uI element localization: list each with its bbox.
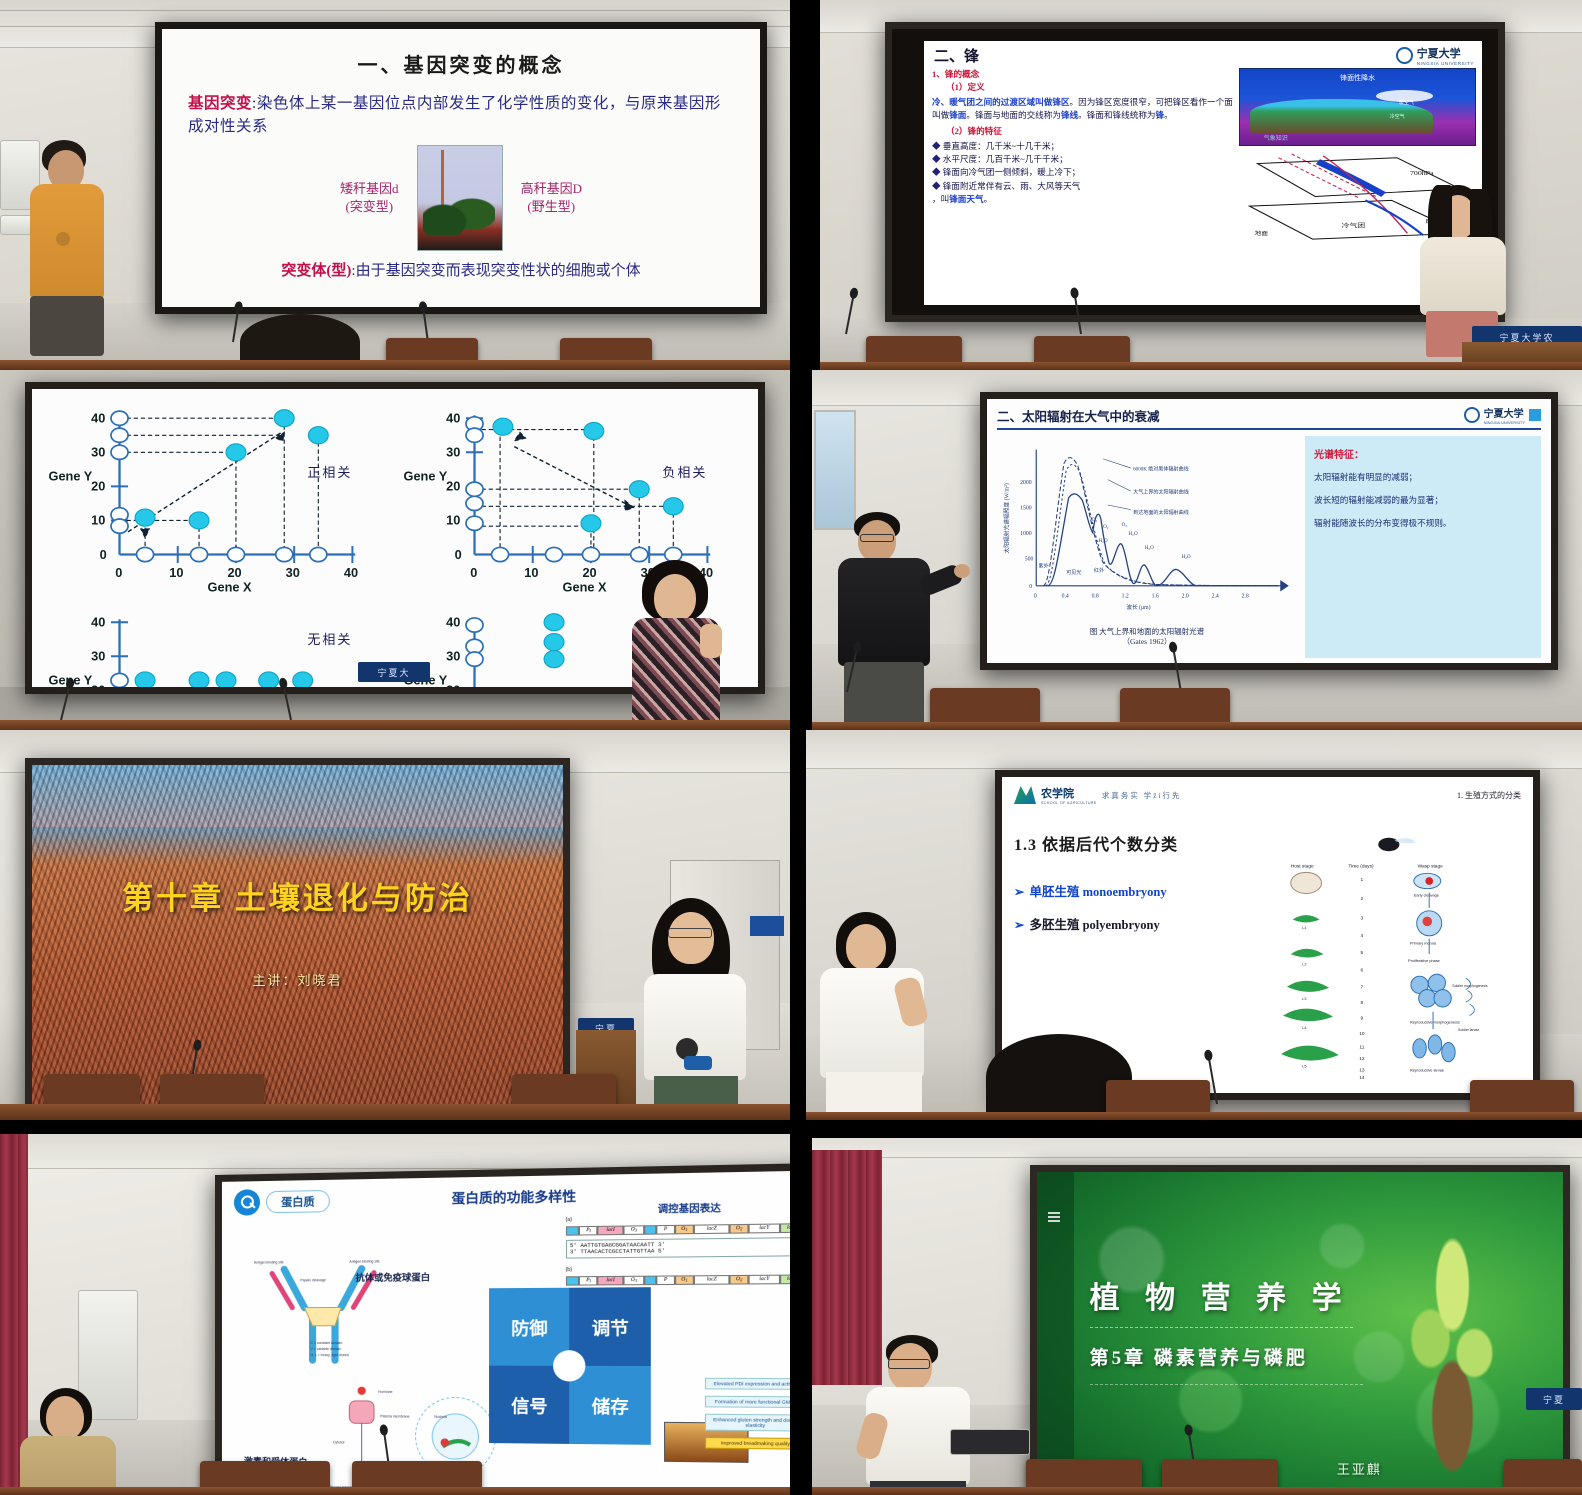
letterbox-left — [790, 730, 806, 1120]
svg-text:紫外: 紫外 — [1039, 562, 1049, 569]
svg-text:Gene X: Gene X — [563, 579, 607, 594]
figure-caption: 图 大气上界和地面的太阳辐射光谱 — [997, 627, 1297, 637]
svg-text:20: 20 — [227, 565, 241, 580]
svg-text:4: 4 — [1361, 933, 1364, 939]
conference-desk — [806, 1112, 1582, 1120]
svg-text:0: 0 — [115, 565, 122, 580]
slide-subtitle: 主讲：刘晓君 — [32, 970, 563, 989]
svg-text:6: 6 — [1361, 967, 1364, 973]
presenter-white-polo — [860, 1335, 978, 1495]
svg-text:Gene Y: Gene Y — [404, 469, 448, 484]
svg-text:Early cleavage: Early cleavage — [1414, 893, 1439, 897]
logo-subtext: NINGXIA UNIVERSITY — [1417, 61, 1474, 66]
slide-section-label: 1. 生殖方式的分类 — [1457, 790, 1521, 801]
svg-text:10: 10 — [1360, 1031, 1366, 1037]
box-line: 太阳辐射能有明显的减弱； — [1314, 471, 1532, 483]
slide-plant-nutrition: 植 物 营 养 学 第5章 磷素营养与磷肥 王亚麒 — [1037, 1172, 1563, 1495]
svg-text:0: 0 — [455, 547, 462, 562]
mutant-label: 突变体(型) — [281, 263, 351, 279]
svg-text:H₂O: H₂O — [1145, 545, 1154, 551]
svg-text:Gene Y: Gene Y — [49, 469, 93, 484]
panel-gene-correlation[interactable]: 403020100 010203040 Gene YGene X — [0, 370, 790, 730]
svg-text:Plasma membrane: Plasma membrane — [380, 1414, 410, 1418]
svg-text:Antigen binding site: Antigen binding site — [349, 1259, 380, 1263]
svg-text:40: 40 — [344, 565, 358, 580]
svg-text:20: 20 — [91, 682, 105, 687]
slide-title: 二、锋 — [934, 45, 979, 66]
conference-desk — [820, 362, 1582, 370]
svg-text:6000K 绝对黑体辐射曲线: 6000K 绝对黑体辐射曲线 — [1133, 465, 1189, 472]
svg-text:30: 30 — [91, 445, 105, 460]
label-warm-air: 暖空气 — [1399, 99, 1414, 106]
slide-definition: 基因突变:染色体上某一基因位点内部发生了化学性质的变化，与原来基因形成对性关系 — [188, 92, 734, 139]
slide-protein-function: 蛋白质的功能多样性 蛋白质 — [222, 1170, 790, 1495]
logo-text: 宁夏大学 — [1484, 405, 1525, 420]
video-grid: 一、基因突变的概念 基因突变:染色体上某一基因位点内部发生了化学性质的变化，与原… — [0, 0, 1582, 1495]
panel-solar-radiation[interactable]: 二、太阳辐射在大气中的衰减 宁夏大学 NINGXIA UNIVERSITY — [790, 370, 1582, 730]
flow-diagram: Elevated PDI expression and activity For… — [705, 1378, 790, 1456]
presenter-white-blouse — [640, 898, 750, 1120]
school-slogan: 求真务实 学ží行先 — [1102, 790, 1182, 801]
presenter-floral-dress — [628, 560, 724, 730]
letterbox-left — [790, 0, 820, 370]
wildtype-caption: 高秆基因D (野生型) — [521, 180, 582, 215]
letterbox-top — [790, 1120, 1582, 1138]
panel-gene-mutation[interactable]: 一、基因突变的概念 基因突变:染色体上某一基因位点内部发生了化学性质的变化，与原… — [0, 0, 790, 370]
menu-icon — [1048, 1212, 1060, 1222]
mutant-caption: 矮秆基因d (突变型) — [340, 180, 399, 215]
svg-text:H₂O: H₂O — [1182, 554, 1191, 560]
svg-text:30: 30 — [446, 445, 460, 460]
section-heading-1: 1、锋的概念 — [932, 68, 1233, 81]
svg-text:13: 13 — [1360, 1067, 1366, 1073]
projection-screen[interactable]: 植 物 营 养 学 第5章 磷素营养与磷肥 王亚麒 — [1030, 1165, 1570, 1495]
chart-title-none-1: 无相关 — [307, 629, 352, 648]
svg-text:9: 9 — [1361, 1015, 1364, 1021]
bullet-polyembryony: ➢多胚生殖 polyembryony — [1014, 914, 1257, 933]
svg-text:10: 10 — [91, 513, 105, 528]
letterbox-left — [790, 370, 812, 730]
box-line: 辐射能随波长的分布变得极不规则。 — [1314, 517, 1532, 529]
flow-box: Enhanced gluten strength and dough elast… — [705, 1414, 790, 1432]
svg-text:L3: L3 — [1303, 997, 1307, 1001]
presenter-orange-shirt — [28, 140, 108, 350]
logo-square-icon — [1529, 409, 1541, 421]
conference-desk — [0, 1487, 790, 1495]
box-line: 波长短的辐射能减弱的最为显著； — [1314, 494, 1532, 506]
svg-text:20: 20 — [446, 479, 460, 494]
conference-desk — [812, 722, 1582, 730]
slide-title: 第十章 土壤退化与防治 — [32, 873, 563, 918]
sequence-bottom: 3' TTAACACTCGCCTATTGTTAA 5' — [570, 1247, 790, 1256]
panel-weather-front[interactable]: 二、锋 宁夏大学 NINGXIA UNIVERSITY 1、锋的概念 — [790, 0, 1582, 370]
slide-front-concept: 二、锋 宁夏大学 NINGXIA UNIVERSITY 1、锋的概念 — [892, 29, 1498, 315]
svg-text:Time (days): Time (days) — [1349, 864, 1375, 870]
svg-text:Host stage: Host stage — [1291, 864, 1314, 870]
gene-regulation-diagram: 调控基因表达 (a) PI lacIO3 P O1lacZ O2lacY lac… — [566, 1198, 790, 1285]
svg-text:O₃: O₃ — [1092, 517, 1098, 523]
svg-text:Papain cleavage: Papain cleavage — [300, 1278, 326, 1282]
svg-text:L4: L4 — [1303, 1026, 1308, 1030]
label-cold-air: 冷空气 — [1390, 113, 1405, 120]
panel-reproduction-classification[interactable]: 农学院 SCHOOL OF AGRICULTURE 求真务实 学ží行先 1. … — [790, 730, 1582, 1120]
svg-text:0.8: 0.8 — [1092, 593, 1099, 599]
svg-text:8: 8 — [1361, 1000, 1364, 1006]
plant-photo — [1384, 1232, 1521, 1474]
svg-text:1.2: 1.2 — [1122, 593, 1129, 599]
slide-subtitle: 第5章 磷素营养与磷肥 — [1090, 1343, 1308, 1370]
subheading-2: （2）锋的特征 — [932, 125, 1233, 138]
svg-text:1000: 1000 — [1020, 531, 1032, 537]
flow-box: Improved breadmaking quality — [705, 1437, 790, 1450]
svg-text:2.8: 2.8 — [1242, 593, 1249, 599]
svg-text:500: 500 — [1025, 556, 1034, 562]
slide-soil-degradation: 第十章 土壤退化与防治 主讲：刘晓君 — [32, 765, 563, 1120]
chart-title-positive: 正相关 — [307, 462, 352, 481]
chart-solar-spectrum: 2000150010005000 00.40.81.2 1.62.02.42.8… — [997, 436, 1297, 658]
eyeglasses — [888, 1359, 930, 1369]
logo-mark-icon — [1014, 786, 1036, 804]
slide-solar-radiation: 二、太阳辐射在大气中的衰减 宁夏大学 NINGXIA UNIVERSITY — [987, 399, 1551, 663]
svg-text:12: 12 — [1360, 1056, 1366, 1062]
slide-title: 二、太阳辐射在大气中的衰减 — [997, 406, 1160, 425]
slide-title: 一、基因突变的概念 — [188, 49, 734, 78]
logo-ring-icon — [1396, 47, 1413, 64]
slide-heading: 1.3 依据后代个数分类 — [1014, 831, 1257, 855]
school-logo: 农学院 SCHOOL OF AGRICULTURE 求真务实 学ží行先 — [1014, 785, 1182, 805]
box-title: 光谱特征： — [1314, 446, 1532, 461]
svg-text:0: 0 — [1029, 584, 1032, 590]
svg-text:11: 11 — [1360, 1044, 1365, 1050]
svg-text:20: 20 — [446, 682, 460, 687]
svg-text:O₂: O₂ — [1103, 524, 1109, 530]
bullet-item: ◆ 垂直高度：几千米~十几千米； — [932, 140, 1233, 153]
svg-text:40: 40 — [91, 410, 105, 425]
gear-quadrant-regulation: 调节 — [570, 1287, 652, 1366]
rice-plant-photo — [417, 145, 503, 251]
bullet-monoembryony: ➢单胚生殖 monoembryony — [1014, 881, 1257, 900]
logo-ring-icon — [1464, 407, 1480, 423]
projection-screen[interactable]: 二、太阳辐射在大气中的衰减 宁夏大学 NINGXIA UNIVERSITY — [980, 392, 1558, 670]
svg-text:Gene X: Gene X — [208, 579, 252, 594]
clicker-device — [684, 1056, 712, 1070]
slide-gene-mutation: 一、基因突变的概念 基因突变:染色体上某一基因位点内部发生了化学性质的变化，与原… — [162, 29, 760, 307]
svg-text:大气上界的太阳辐射曲线: 大气上界的太阳辐射曲线 — [1133, 488, 1189, 495]
eyeglasses — [860, 534, 894, 542]
svg-text:太阳辐射光谱辐照度 (W/m²): 太阳辐射光谱辐照度 (W/m²) — [1003, 483, 1011, 553]
svg-text:L2: L2 — [1303, 963, 1307, 967]
front-precipitation-image: 锋面性降水 暖空气 冷空气 气象知识 — [1239, 68, 1476, 146]
svg-text:0.4: 0.4 — [1062, 593, 1069, 599]
protein-function-gear: 防御 调节 信号 储存 — [489, 1287, 651, 1445]
logo-text: 宁夏大学 — [1417, 45, 1474, 61]
gear-hub — [553, 1350, 585, 1381]
gear-quadrant-storage: 储存 — [570, 1365, 652, 1444]
definition-label: 基因突变 — [188, 95, 252, 112]
university-logo: 宁夏大学 NINGXIA UNIVERSITY — [1396, 45, 1474, 66]
svg-text:Wasp stage: Wasp stage — [1418, 864, 1443, 870]
svg-text:5: 5 — [1361, 950, 1364, 956]
conference-desk — [0, 720, 790, 730]
logo-subtext: NINGXIA UNIVERSITY — [1484, 420, 1525, 425]
projection-screen[interactable]: 第十章 土壤退化与防治 主讲：刘晓君 — [25, 758, 570, 1120]
svg-text:40: 40 — [446, 410, 460, 425]
svg-text:Soldier morphogenesis: Soldier morphogenesis — [1453, 984, 1489, 988]
slide-author: 王亚麒 — [1337, 1459, 1382, 1478]
svg-text:Soldier larvae: Soldier larvae — [1458, 1028, 1479, 1032]
image-watermark: 气象知识 — [1264, 133, 1288, 142]
dna-sequence-box: 5' AATTGTGAGCGGATAACAATT 3' 3' TTAACACTC… — [566, 1237, 790, 1259]
svg-text:30: 30 — [91, 648, 105, 663]
bullet-item: ◆ 锋面附近常伴有云、雨、大风等天气 — [932, 180, 1233, 193]
svg-text:0: 0 — [100, 547, 107, 562]
svg-text:波长 (μm): 波长 (μm) — [1126, 603, 1150, 611]
presenter-white-top — [820, 912, 930, 1112]
svg-text:2.4: 2.4 — [1212, 593, 1219, 599]
definition-bold: 冷、暖气团之间的过渡区域叫做锋区 — [932, 97, 1070, 107]
svg-text:2: 2 — [1361, 896, 1364, 902]
svg-text:1500: 1500 — [1020, 506, 1032, 512]
spectrum-features-box: 光谱特征： 太阳辐射能有明显的减弱； 波长短的辐射能减弱的最为显著； 辐射能随波… — [1305, 436, 1541, 658]
letterbox-left — [790, 1120, 812, 1495]
letterbox-top — [0, 1120, 790, 1134]
slide-title: 植 物 营 养 学 — [1090, 1273, 1351, 1317]
flow-box: Formation of more functional GMPs — [705, 1396, 790, 1408]
svg-text:30: 30 — [446, 648, 460, 663]
conference-desk — [812, 1487, 1582, 1495]
svg-text:Nucleus: Nucleus — [434, 1415, 447, 1419]
panel-plant-nutrition[interactable]: 植 物 营 养 学 第5章 磷素营养与磷肥 王亚麒 宁夏 — [790, 1120, 1582, 1495]
slide-footer-text: 突变体(型):由于基因突变而表现突变性状的细胞或个体 — [188, 259, 734, 280]
svg-text:V = variable domain: V = variable domain — [311, 1347, 342, 1351]
logo-text: 农学院 — [1041, 785, 1097, 801]
svg-text:1.6: 1.6 — [1152, 593, 1159, 599]
svg-text:红外: 红外 — [1094, 567, 1104, 574]
panel-soil-degradation[interactable]: 第十章 土壤退化与防治 主讲：刘晓君 宁夏 — [0, 730, 790, 1120]
svg-text:1: 1 — [1361, 877, 1364, 883]
svg-text:14: 14 — [1360, 1075, 1366, 1081]
presenter-black-polo — [832, 512, 942, 730]
track-b-label: (b) — [566, 1265, 790, 1273]
podium-nameplate: 宁夏 — [1526, 1388, 1582, 1410]
conference-desk — [0, 360, 790, 370]
presenter-tan-jacket — [20, 1388, 120, 1495]
svg-text:30: 30 — [286, 565, 300, 580]
svg-text:Primary morula: Primary morula — [1410, 941, 1437, 945]
panel-protein-function[interactable]: 蛋白质的功能多样性 蛋白质 — [0, 1120, 790, 1495]
bullet-item: ◆ 锋面向冷气团一侧倾斜，暖上冷下； — [932, 166, 1233, 179]
projection-screen[interactable]: 一、基因突变的概念 基因突变:染色体上某一基因位点内部发生了化学性质的变化，与原… — [155, 22, 767, 314]
svg-text:Proliferative phase: Proliferative phase — [1408, 959, 1440, 963]
svg-text:0: 0 — [1034, 593, 1037, 599]
svg-text:700hPa: 700hPa — [1410, 171, 1434, 177]
svg-text:地面: 地面 — [1255, 230, 1268, 237]
svg-text:2000: 2000 — [1020, 480, 1032, 486]
wasp-development-diagram: Host stageTime (days)Wasp stage 1234 567… — [1257, 831, 1521, 1086]
svg-text:Antigen binding site: Antigen binding site — [254, 1260, 284, 1264]
svg-text:L5: L5 — [1303, 1065, 1307, 1069]
gene-track-b: PI lacIO3 P O1lacZ O2lacY lacA — [566, 1274, 790, 1285]
svg-text:H₂O: H₂O — [1129, 531, 1138, 537]
svg-text:3: 3 — [1361, 915, 1364, 921]
definition-text: :染色体上某一基因位点内部发生了化学性质的变化，与原来基因形成对性关系 — [188, 95, 721, 135]
comparison-figure: 矮秆基因d (突变型) 高秆基因D (野生型) — [188, 145, 734, 251]
svg-text:H, L = heavy, light chains: H, L = heavy, light chains — [311, 1353, 350, 1357]
eyeglasses — [668, 928, 712, 938]
flow-box: Elevated PDI expression and activity — [705, 1378, 790, 1390]
bullet-item: ◆ 水平尺度：几百千米~几千千米； — [932, 153, 1233, 166]
subheading-1: （1）定义 — [932, 81, 1233, 94]
projection-screen[interactable]: 二、锋 宁夏大学 NINGXIA UNIVERSITY 1、锋的概念 — [885, 22, 1505, 322]
svg-text:L1: L1 — [1303, 926, 1307, 930]
svg-text:40: 40 — [91, 614, 105, 629]
chart-no-correlation-horizontal: 403020100 010203040 Gene YGene X — [40, 597, 395, 687]
svg-text:Reproductive morphogenesis: Reproductive morphogenesis — [1410, 1020, 1460, 1024]
gene-track-a: PI lacIO3 P O1lacZ O2lacY lacA — [566, 1223, 790, 1236]
figure-source: （Gates 1962） — [997, 637, 1297, 647]
svg-text:0: 0 — [470, 565, 477, 580]
projector-box — [950, 1429, 1030, 1455]
svg-text:10: 10 — [524, 565, 538, 580]
conference-desk — [0, 1104, 790, 1120]
svg-text:可见光: 可见光 — [1066, 569, 1081, 576]
svg-text:冷气团: 冷气团 — [1342, 222, 1366, 230]
chart-positive-correlation: 403020100 010203040 Gene YGene X — [40, 393, 395, 597]
svg-text:Hormone: Hormone — [378, 1390, 393, 1394]
svg-text:Cytosol: Cytosol — [333, 1440, 345, 1444]
svg-text:到达地面的太阳辐射曲线: 到达地面的太阳辐射曲线 — [1133, 509, 1189, 516]
podium-nameplate: 宁夏大 — [358, 662, 430, 682]
svg-text:10: 10 — [446, 513, 460, 528]
door-sign — [750, 916, 784, 936]
svg-text:C = constant domain: C = constant domain — [311, 1341, 343, 1345]
svg-text:7: 7 — [1361, 985, 1364, 991]
svg-text:20: 20 — [582, 565, 596, 580]
svg-text:O₃: O₃ — [1122, 522, 1128, 528]
image-caption: 锋面性降水 — [1240, 73, 1475, 83]
logo-subtext: SCHOOL OF AGRICULTURE — [1041, 801, 1097, 805]
svg-text:H₂O: H₂O — [1099, 538, 1108, 544]
search-icon — [234, 1189, 260, 1216]
svg-text:10: 10 — [169, 565, 183, 580]
svg-text:20: 20 — [91, 479, 105, 494]
university-logo: 宁夏大学 NINGXIA UNIVERSITY — [1464, 405, 1541, 425]
svg-text:Reproductive larvae: Reproductive larvae — [1410, 1068, 1444, 1072]
label-antibody: 抗体或免疫球蛋白 — [356, 1270, 431, 1284]
chart-title-negative: 负相关 — [662, 462, 707, 481]
svg-text:2.0: 2.0 — [1182, 593, 1189, 599]
svg-text:40: 40 — [446, 614, 460, 629]
projection-screen[interactable]: 蛋白质的功能多样性 蛋白质 — [215, 1163, 790, 1495]
